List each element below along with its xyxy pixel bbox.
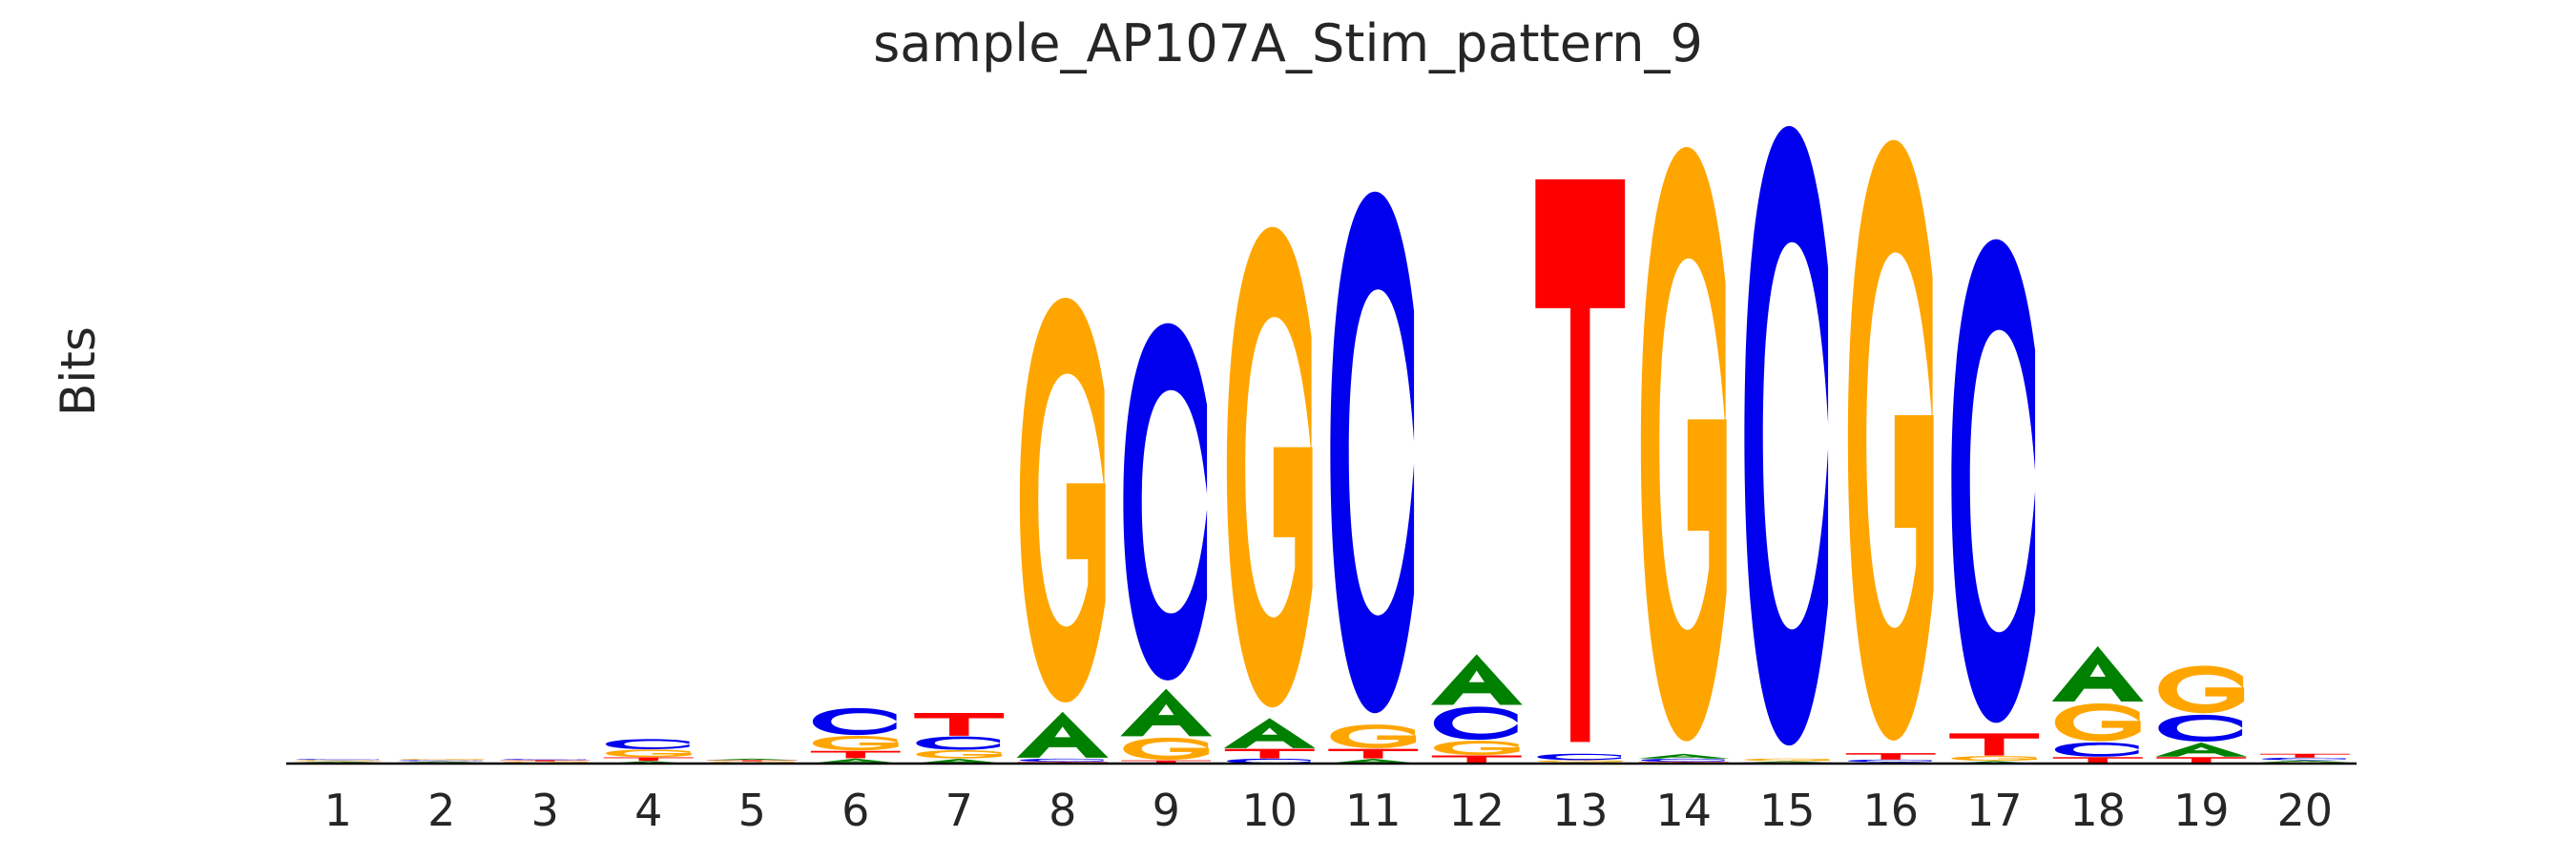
logo-letter-C	[502, 759, 586, 760]
logo-letter-G	[1020, 298, 1106, 702]
x-tick-label: 19	[2144, 788, 2258, 832]
logo-letter-G	[1330, 724, 1416, 748]
logo-letter-G	[1951, 756, 2037, 761]
logo-letter-A	[706, 759, 798, 761]
logo-letter-G	[2158, 666, 2244, 714]
logo-letter-C	[1744, 126, 1828, 745]
logo-letter-C	[295, 759, 379, 760]
logo-letter-A	[1431, 655, 1523, 705]
logo-letter-G	[502, 762, 588, 763]
logo-stack	[1534, 179, 1626, 764]
logo-stack	[1638, 147, 1730, 764]
logo-letter-stacks	[292, 126, 2350, 764]
logo-letter-C	[1951, 240, 2035, 723]
logo-letter-C	[1020, 759, 1104, 762]
logo-stack	[2155, 666, 2247, 764]
logo-letter-C	[916, 737, 1000, 750]
logo-stack	[1845, 140, 1937, 764]
x-tick-label: 2	[384, 788, 499, 832]
logo-letter-T	[707, 760, 797, 761]
logo-letter-G	[295, 760, 381, 761]
logo-stack	[1431, 655, 1523, 764]
logo-letter-T	[604, 758, 694, 762]
logo-letter-C	[1537, 754, 1621, 761]
logo-letter-A	[1120, 689, 1212, 737]
x-tick-label: 13	[1523, 788, 1637, 832]
x-tick-label: 18	[2041, 788, 2155, 832]
logo-letter-T	[1432, 756, 1522, 764]
logo-letter-T	[500, 760, 590, 761]
sequence-logo-canvas	[0, 0, 2576, 859]
x-tick-label: 6	[799, 788, 913, 832]
logo-stack	[1327, 192, 1419, 764]
logo-stack	[1120, 324, 1212, 764]
logo-stack	[1741, 126, 1833, 764]
x-tick-label: 4	[592, 788, 706, 832]
logo-stack	[1017, 298, 1109, 764]
x-tick-label: 11	[1316, 788, 1430, 832]
x-tick-label: 7	[902, 788, 1016, 832]
logo-stack	[913, 713, 1005, 764]
logo-letter-A	[292, 762, 384, 763]
logo-letter-G	[1123, 738, 1209, 760]
x-tick-label: 20	[2248, 788, 2362, 832]
x-tick-label: 12	[1420, 788, 1534, 832]
logo-letter-A	[1224, 718, 1316, 747]
logo-stack	[810, 708, 902, 764]
logo-stack	[1948, 240, 2040, 764]
x-tick-label: 10	[1213, 788, 1327, 832]
logo-letter-T	[1846, 753, 1936, 760]
logo-stack	[603, 739, 695, 764]
logo-letter-G	[1641, 147, 1727, 742]
logo-letter-G	[1227, 227, 1313, 707]
logo-letter-C	[1123, 324, 1207, 681]
logo-letter-A	[1638, 754, 1730, 759]
logo-letter-T	[914, 713, 1004, 736]
logo-letter-C	[399, 760, 483, 761]
logo-letter-G	[2055, 703, 2141, 742]
logo-letter-T	[2260, 754, 2350, 758]
logo-letter-G	[1537, 761, 1623, 763]
x-tick-label: 16	[1834, 788, 1948, 832]
logo-letter-A	[396, 762, 488, 763]
logo-letter-A	[2259, 761, 2351, 763]
x-tick-label: 3	[488, 788, 602, 832]
x-tick-label: 15	[1730, 788, 1844, 832]
logo-letter-T	[811, 751, 901, 759]
logo-letter-A	[1017, 712, 1109, 758]
logo-letter-G	[606, 749, 692, 757]
logo-letter-T	[1535, 179, 1625, 743]
logo-letter-C	[1848, 760, 1932, 763]
logo-letter-T	[1949, 733, 2039, 755]
logo-letter-C	[2262, 758, 2346, 761]
x-tick-label: 8	[1006, 788, 1120, 832]
logo-letter-C	[1641, 759, 1725, 762]
logo-letter-C	[2055, 743, 2139, 757]
x-tick-label: 9	[1109, 788, 1223, 832]
logo-letter-G	[1434, 741, 1520, 755]
logo-letter-G	[709, 762, 795, 763]
logo-letter-A	[2052, 646, 2144, 702]
logo-stack	[1224, 227, 1316, 764]
logo-letter-G	[916, 750, 1002, 759]
logo-stack	[2052, 646, 2144, 764]
logo-letter-G	[813, 736, 899, 750]
logo-letter-C	[1434, 706, 1518, 740]
logo-letter-A	[1741, 761, 1833, 762]
logo-letter-C	[2158, 715, 2242, 742]
logo-letter-T	[1328, 749, 1418, 759]
logo-letter-T	[1225, 749, 1315, 759]
sequence-logo-figure: sample_AP107A_Stim_pattern_9 Bits 0.00.5…	[0, 0, 2576, 859]
logo-letter-G	[1744, 759, 1830, 762]
x-tick-label: 14	[1627, 788, 1741, 832]
logo-letter-C	[606, 739, 690, 749]
logo-letter-C	[813, 708, 897, 735]
logo-letter-G	[1848, 140, 1934, 741]
x-tick-label: 17	[1937, 788, 2051, 832]
logo-letter-A	[2155, 743, 2247, 757]
x-tick-label: 1	[280, 788, 395, 832]
logo-stack	[2259, 754, 2351, 764]
logo-letter-G	[399, 759, 485, 760]
x-tick-label: 5	[695, 788, 809, 832]
logo-letter-C	[1330, 192, 1414, 713]
